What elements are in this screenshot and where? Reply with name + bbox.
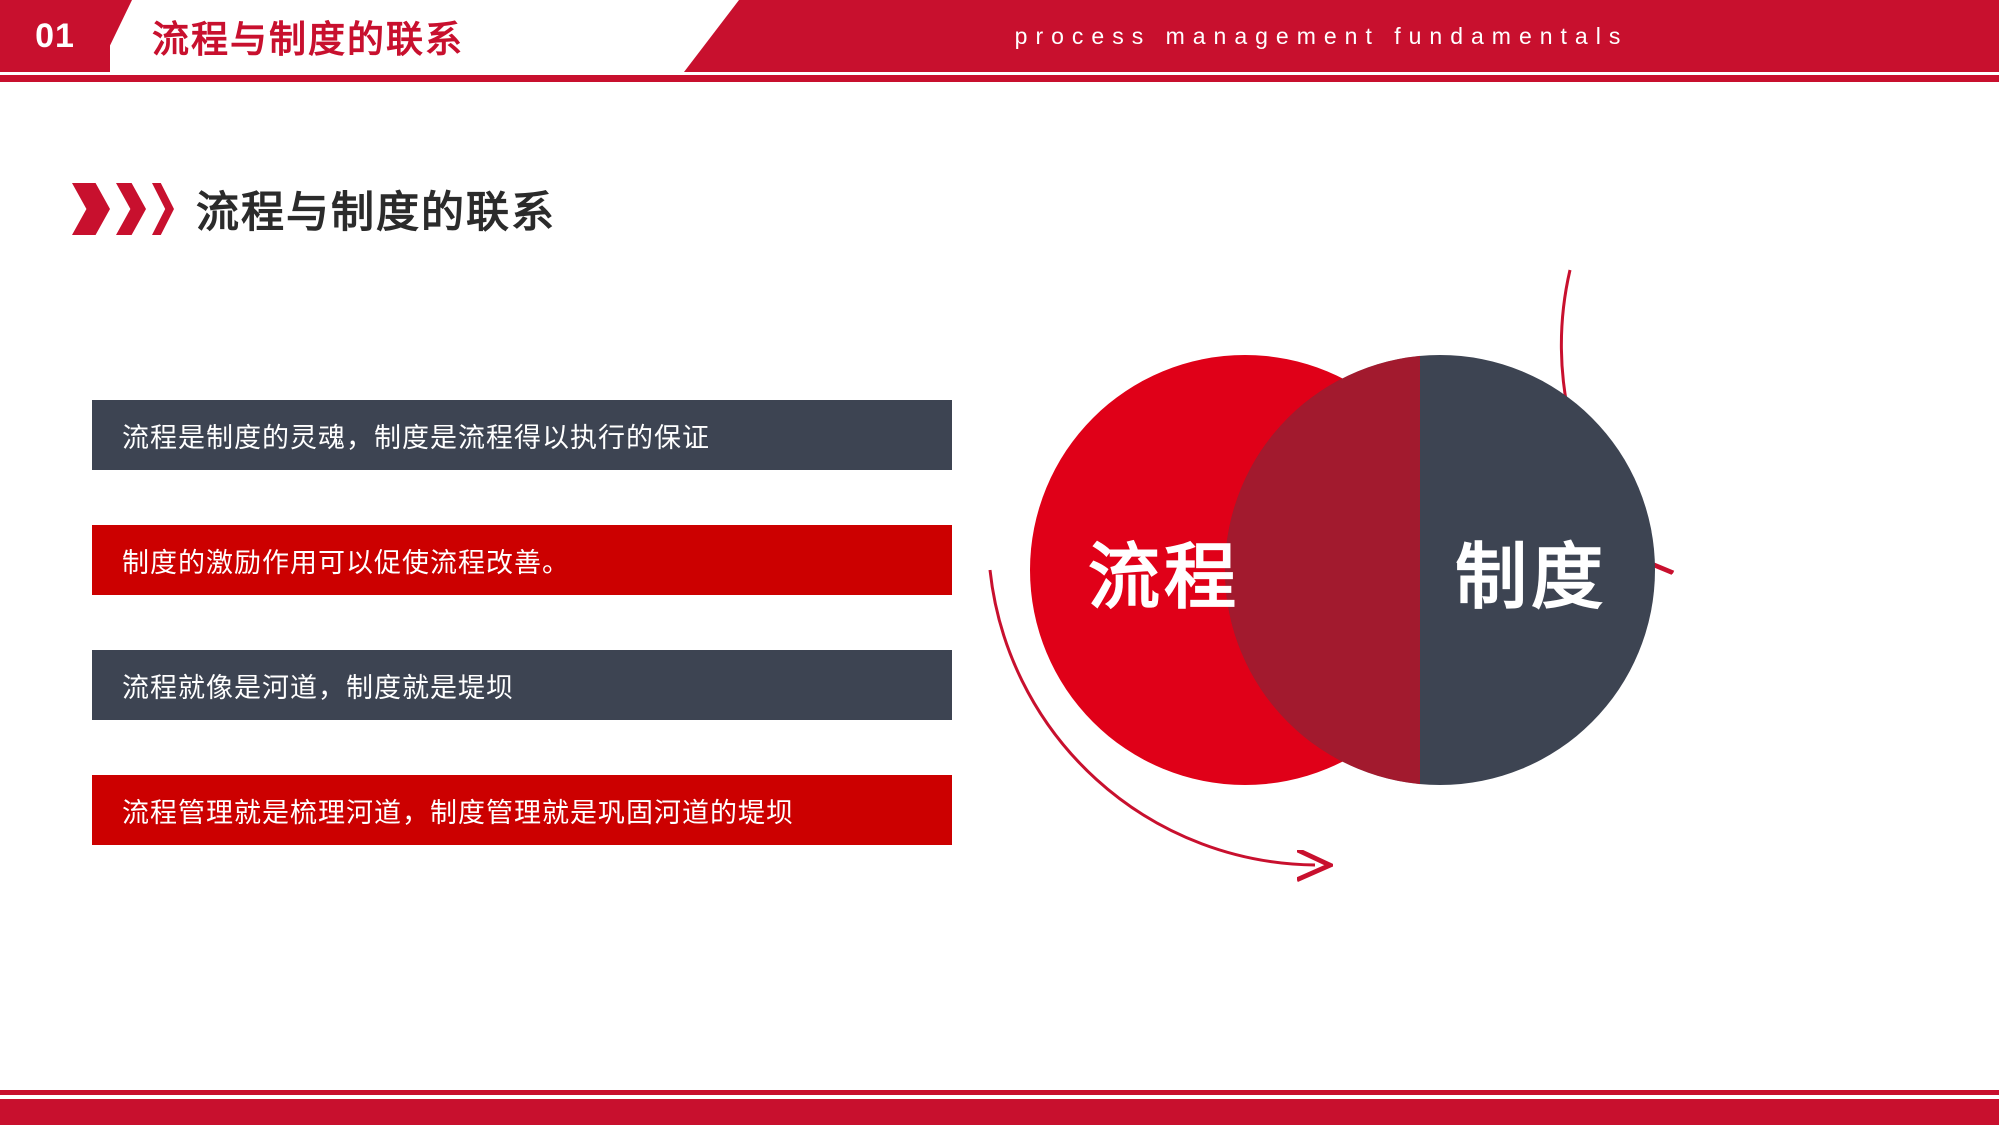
statement-bar: 制度的激励作用可以促使流程改善。 [92,525,952,595]
statement-bar-list: 流程是制度的灵魂，制度是流程得以执行的保证 制度的激励作用可以促使流程改善。 流… [92,400,952,900]
section-title-group: 流程与制度的联系 [72,178,556,240]
footer-divider-rule [0,1090,1999,1095]
slide-footer [0,1099,1999,1125]
chevron-shape-1 [72,183,110,235]
chevron-shape-3 [152,183,174,235]
venn-diagram: 流程 制度 [960,240,1910,900]
header-subtitle: process management fundamentals [684,0,1999,72]
venn-right-label: 制度 [1225,355,1655,785]
header-title: 流程与制度的联系 [152,0,464,72]
statement-bar: 流程就像是河道，制度就是堤坝 [92,650,952,720]
double-chevron-right-icon [72,183,174,235]
chevron-shape-2 [116,183,146,235]
statement-bar: 流程是制度的灵魂，制度是流程得以执行的保证 [92,400,952,470]
header-number: 01 [0,0,110,72]
statement-bar: 流程管理就是梳理河道，制度管理就是巩固河道的堤坝 [92,775,952,845]
section-title-text: 流程与制度的联系 [196,178,556,240]
header-divider-rule [0,75,1999,82]
slide-header: 01 process management fundamentals 流程与制度… [0,0,1999,72]
